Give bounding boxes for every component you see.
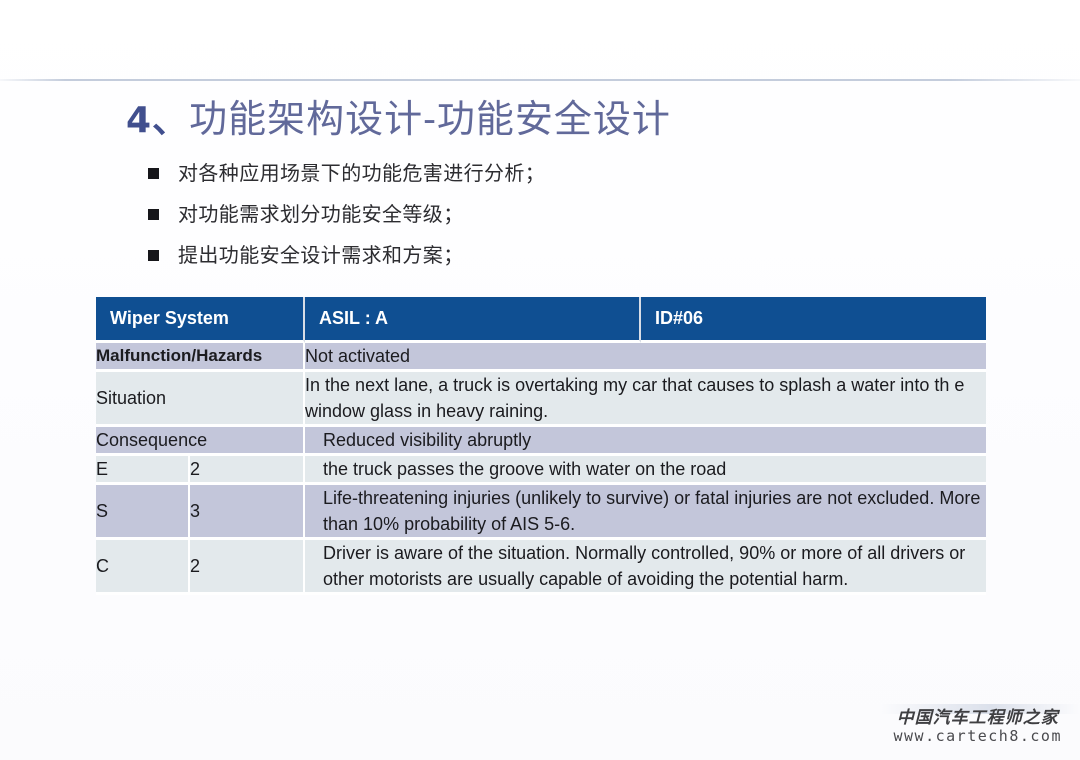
header-cell-asil: ASIL : A: [305, 297, 641, 343]
row-value-severity: Life-threatening injuries (unlikely to s…: [305, 485, 986, 540]
header-cell-id: ID#06: [641, 297, 986, 343]
row-label-exposure: E: [96, 456, 190, 485]
row-label-severity: S: [96, 485, 190, 540]
bullet-text: 对功能需求划分功能安全等级；: [178, 201, 464, 227]
table-row: E 2 the truck passes the groove with wat…: [96, 456, 986, 485]
bullet-list: 对各种应用场景下的功能危害进行分析； 对功能需求划分功能安全等级； 提出功能安全…: [148, 160, 848, 283]
row-label-consequence: Consequence: [96, 427, 305, 456]
watermark-url: www.cartech8.com: [894, 728, 1063, 746]
page-title: 4、功能架构设计-功能安全设计: [126, 88, 671, 143]
table-header-row: Wiper System ASIL : A ID#06: [96, 297, 986, 343]
table-row: C 2 Driver is aware of the situation. No…: [96, 540, 986, 595]
hazard-analysis-table: Wiper System ASIL : A ID#06 Malfunction/…: [96, 297, 986, 595]
header-divider-line: [0, 79, 1080, 81]
row-value-malfunction: Not activated: [305, 343, 986, 372]
watermark: 中国汽车工程师之家 www.cartech8.com: [894, 708, 1063, 746]
table-row: Malfunction/Hazards Not activated: [96, 343, 986, 372]
slide-canvas: 4、功能架构设计-功能安全设计 对各种应用场景下的功能危害进行分析； 对功能需求…: [0, 0, 1080, 760]
table-row: Situation In the next lane, a truck is o…: [96, 372, 986, 427]
list-item: 提出功能安全设计需求和方案；: [148, 242, 848, 283]
row-rating-severity: 3: [190, 485, 305, 540]
page-title-text: 功能架构设计-功能安全设计: [189, 97, 671, 141]
table-row: S 3 Life-threatening injuries (unlikely …: [96, 485, 986, 540]
row-rating-controllability: 2: [190, 540, 305, 595]
row-label-situation: Situation: [96, 372, 305, 427]
header-cell-system: Wiper System: [96, 297, 305, 343]
watermark-cn-text: 中国汽车工程师之家: [894, 708, 1063, 728]
row-value-exposure: the truck passes the groove with water o…: [305, 456, 986, 485]
row-value-consequence: Reduced visibility abruptly: [305, 427, 986, 456]
row-label-malfunction: Malfunction/Hazards: [96, 343, 305, 372]
bullet-text: 提出功能安全设计需求和方案；: [178, 242, 464, 268]
table-row: Consequence Reduced visibility abruptly: [96, 427, 986, 456]
row-value-situation: In the next lane, a truck is overtaking …: [305, 372, 986, 427]
square-bullet-icon: [148, 250, 159, 261]
row-label-controllability: C: [96, 540, 190, 595]
page-title-number: 4、: [126, 100, 189, 141]
square-bullet-icon: [148, 209, 159, 220]
row-rating-exposure: 2: [190, 456, 305, 485]
row-value-controllability: Driver is aware of the situation. Normal…: [305, 540, 986, 595]
square-bullet-icon: [148, 168, 159, 179]
list-item: 对各种应用场景下的功能危害进行分析；: [148, 160, 848, 201]
list-item: 对功能需求划分功能安全等级；: [148, 201, 848, 242]
bullet-text: 对各种应用场景下的功能危害进行分析；: [178, 160, 545, 186]
